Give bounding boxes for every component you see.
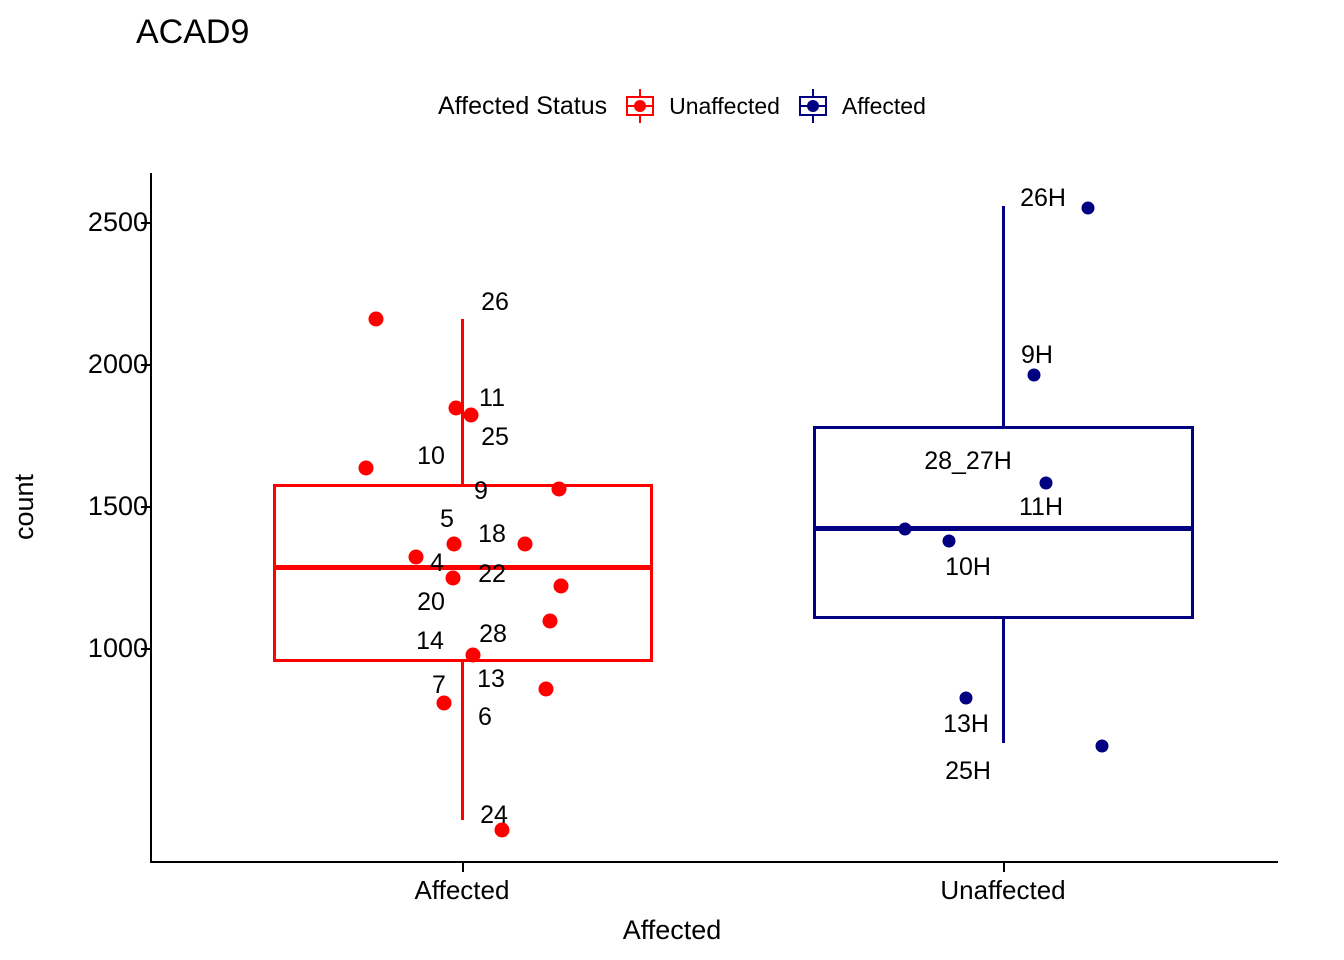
- median-line: [813, 526, 1194, 531]
- data-point[interactable]: [554, 579, 569, 594]
- data-point[interactable]: [943, 535, 956, 548]
- point-label-24: 24: [480, 801, 508, 829]
- point-label-11: 11: [479, 384, 505, 412]
- point-label-11H: 11H: [1019, 493, 1063, 521]
- legend-entry-unaffected[interactable]: Unaffected: [621, 89, 780, 123]
- whisker-lower: [1002, 619, 1005, 743]
- y-axis-line: [150, 173, 152, 863]
- whisker-upper: [1002, 206, 1005, 426]
- data-point[interactable]: [447, 537, 462, 552]
- whisker-upper: [461, 319, 464, 484]
- point-label-14: 14: [416, 627, 444, 655]
- legend-label-affected: Affected: [842, 92, 926, 120]
- data-point[interactable]: [539, 682, 554, 697]
- point-label-25H: 25H: [945, 757, 991, 785]
- legend: Affected Status Unaffected Affected: [438, 88, 926, 124]
- point-label-20: 20: [417, 588, 445, 616]
- point-label-22: 22: [478, 560, 506, 588]
- legend-entry-affected[interactable]: Affected: [794, 89, 926, 123]
- data-point[interactable]: [446, 571, 461, 586]
- x-tick-label-unaffected: Unaffected: [940, 874, 1065, 906]
- point-label-13: 13: [477, 665, 505, 693]
- data-point[interactable]: [449, 401, 464, 416]
- point-label-10: 10: [417, 442, 445, 470]
- legend-key-unaffected-boxplot-icon: [621, 89, 659, 123]
- point-label-26: 26: [481, 288, 509, 316]
- data-point[interactable]: [409, 550, 424, 565]
- data-point[interactable]: [359, 461, 374, 476]
- x-tick-mark: [462, 863, 464, 872]
- data-point[interactable]: [1082, 202, 1095, 215]
- point-label-10H: 10H: [945, 553, 991, 581]
- point-label-7: 7: [432, 671, 446, 699]
- chart-page: ACAD9 Affected Status Unaffected Affecte…: [0, 0, 1344, 960]
- x-axis-title: Affected: [0, 913, 1344, 947]
- x-tick-label-affected: Affected: [415, 874, 510, 906]
- whisker-lower: [461, 662, 464, 820]
- x-axis-line: [150, 861, 1278, 863]
- data-point[interactable]: [1028, 369, 1041, 382]
- data-point[interactable]: [1040, 477, 1053, 490]
- median-line: [273, 565, 653, 570]
- y-tick-label-1000: 1000: [88, 632, 148, 664]
- data-point[interactable]: [543, 614, 558, 629]
- point-label-9: 9: [474, 477, 488, 505]
- data-point[interactable]: [1096, 740, 1109, 753]
- x-tick-mark: [1003, 863, 1005, 872]
- box-iqr: [273, 484, 653, 662]
- point-label-25: 25: [481, 423, 509, 451]
- y-tick-label-2000: 2000: [88, 348, 148, 380]
- point-label-9H: 9H: [1021, 341, 1053, 369]
- point-label-28: 28: [479, 620, 507, 648]
- data-point[interactable]: [464, 408, 479, 423]
- point-label-13H: 13H: [943, 710, 989, 738]
- data-point[interactable]: [518, 537, 533, 552]
- legend-title: Affected Status: [438, 91, 607, 121]
- point-label-28_27H: 28_27H: [924, 447, 1012, 475]
- point-label-18: 18: [478, 520, 506, 548]
- data-point[interactable]: [466, 648, 481, 663]
- y-tick-label-1500: 1500: [88, 490, 148, 522]
- data-point[interactable]: [899, 523, 912, 536]
- page-title: ACAD9: [136, 12, 249, 52]
- data-point[interactable]: [369, 312, 384, 327]
- data-point[interactable]: [960, 692, 973, 705]
- point-label-5: 5: [440, 505, 454, 533]
- y-axis-title: count: [7, 447, 41, 567]
- data-point[interactable]: [552, 482, 567, 497]
- point-label-26H: 26H: [1020, 184, 1066, 212]
- legend-label-unaffected: Unaffected: [669, 92, 780, 120]
- legend-key-affected-boxplot-icon: [794, 89, 832, 123]
- point-label-6: 6: [478, 703, 492, 731]
- point-label-4: 4: [430, 549, 444, 577]
- y-tick-label-2500: 2500: [88, 206, 148, 238]
